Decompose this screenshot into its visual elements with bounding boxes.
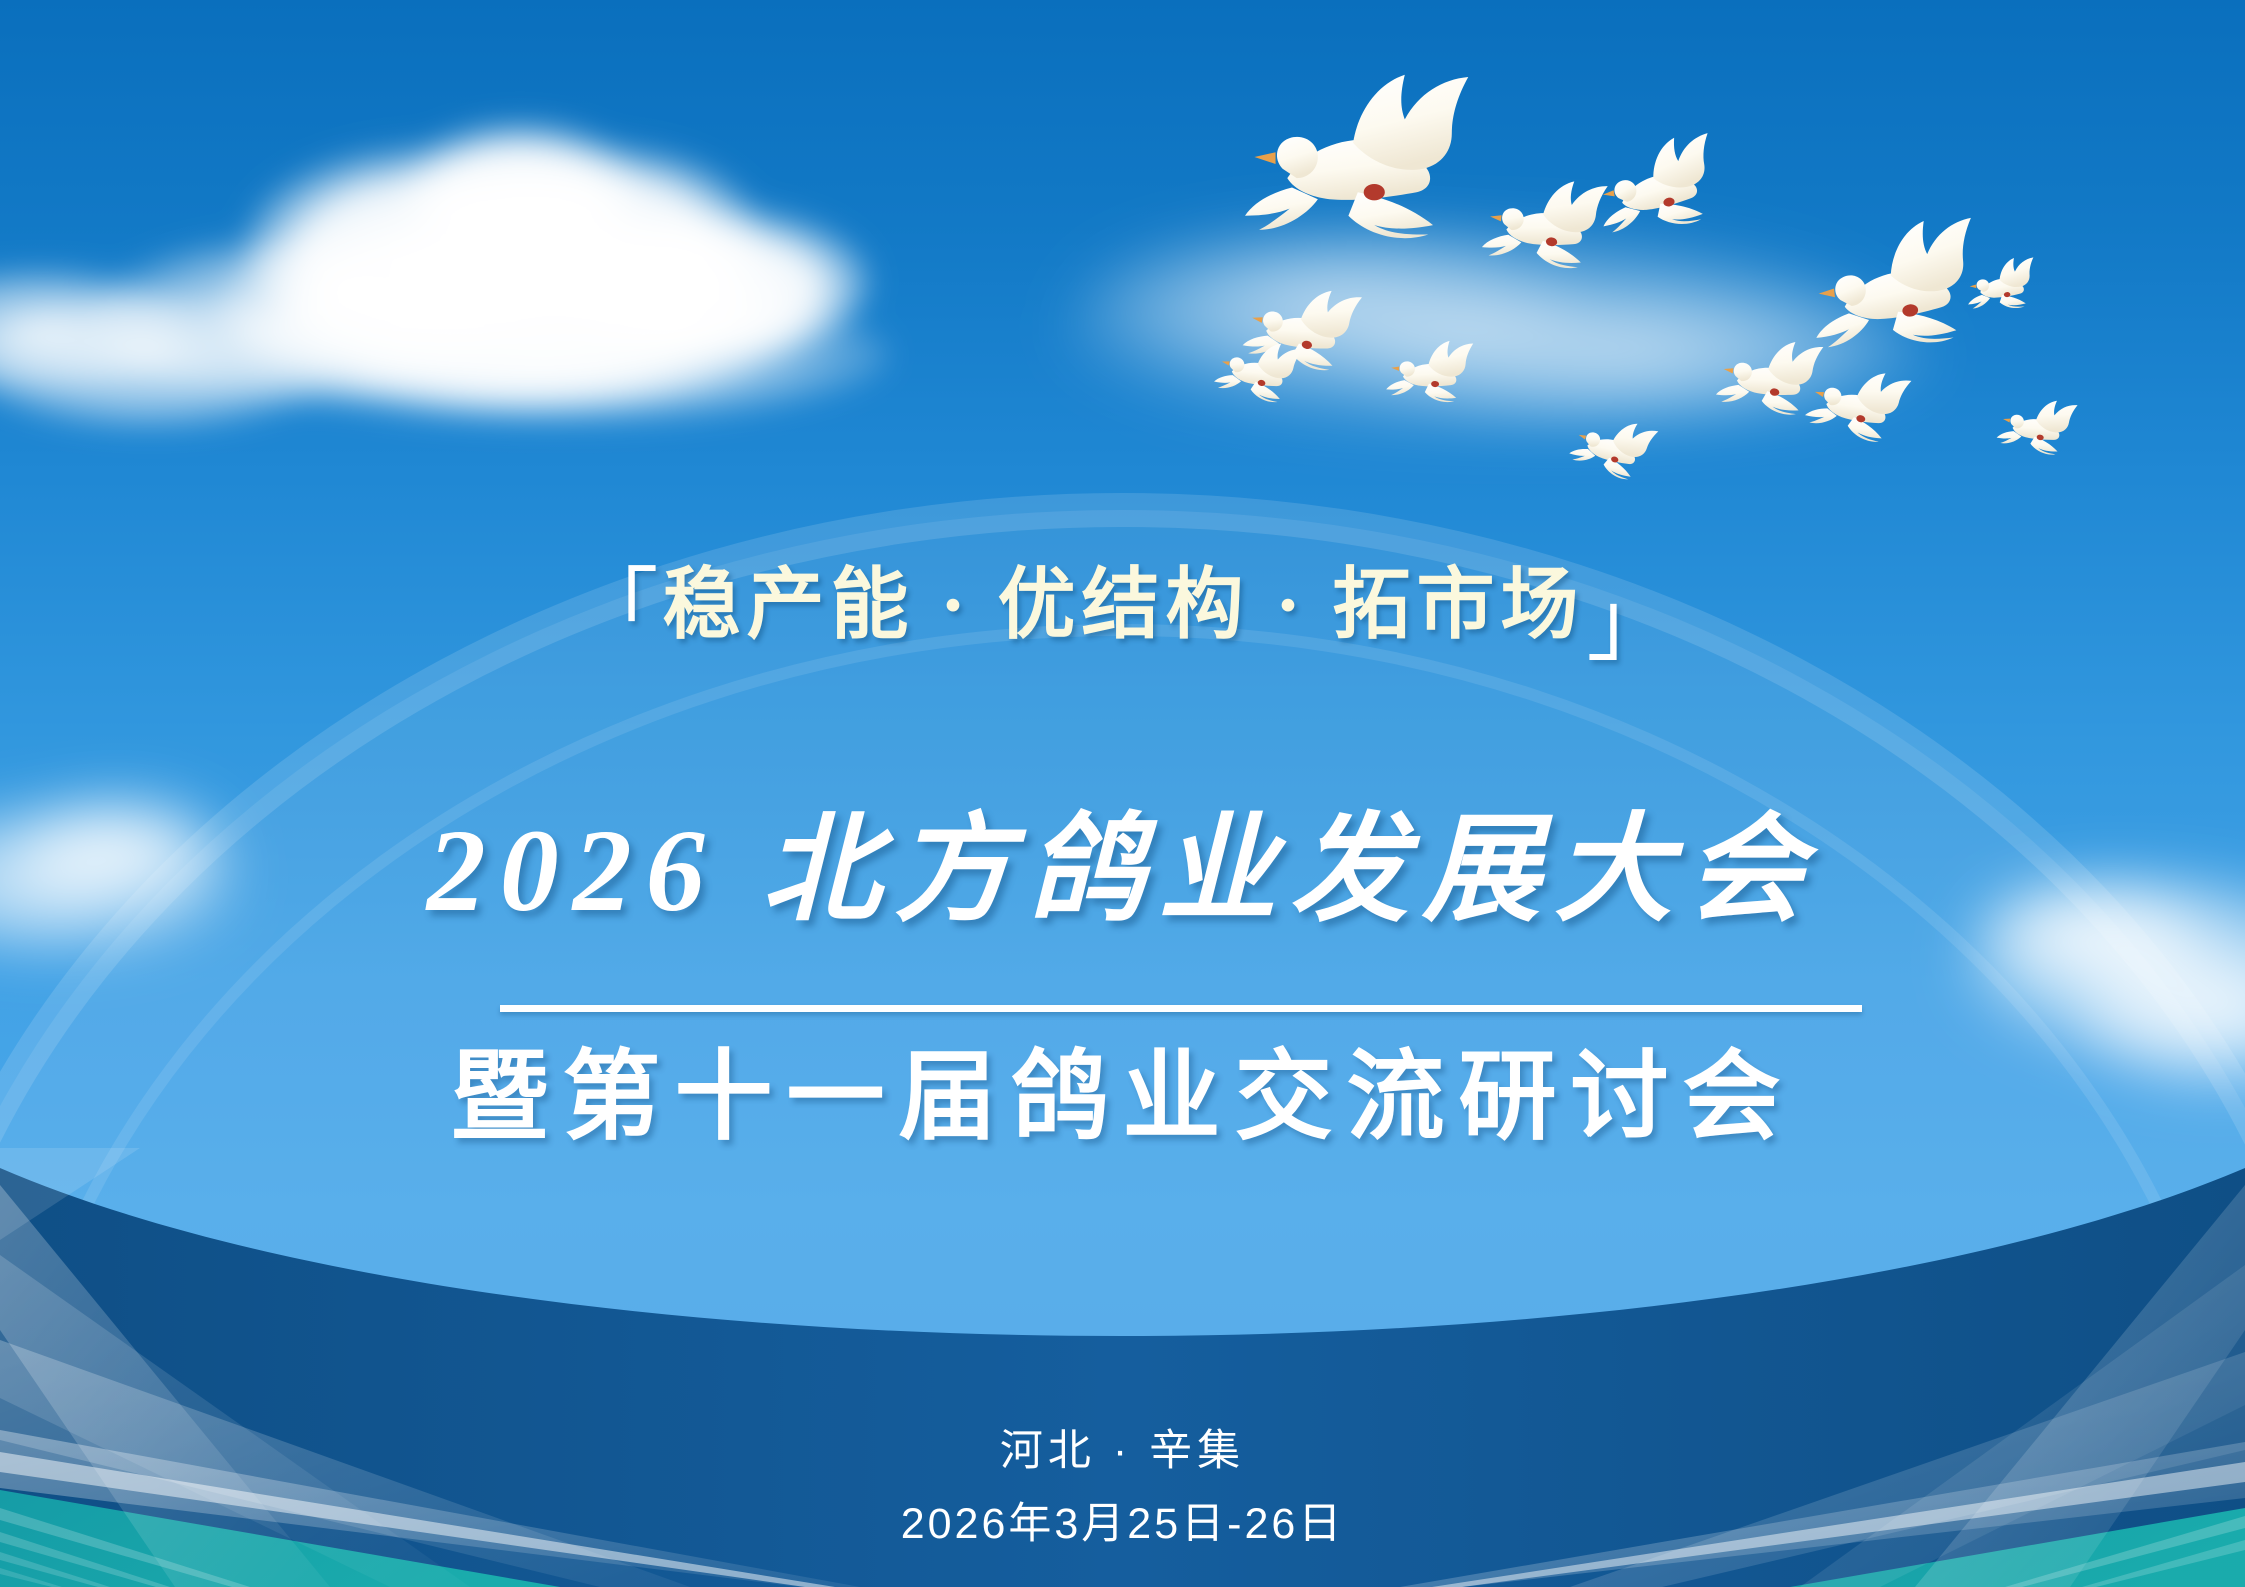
date-text: 2026年3月25日-26日 <box>0 1503 2245 1546</box>
tagline-row: 「 稳产能 · 优结构 · 拓市场 」 <box>0 566 2245 652</box>
main-title: 2026 北方鸽业发展大会 <box>0 805 2245 937</box>
venue-text: 河北 · 辛集 <box>0 1430 2245 1473</box>
bracket-open-icon: 「 <box>572 566 658 652</box>
poster-text-content: 「 稳产能 · 优结构 · 拓市场 」 2026 北方鸽业发展大会 暨第十一届鸽… <box>0 0 2245 1587</box>
poster-canvas: 「 稳产能 · 优结构 · 拓市场 」 2026 北方鸽业发展大会 暨第十一届鸽… <box>0 0 2245 1587</box>
sub-title: 暨第十一届鸽业交流研讨会 <box>0 1040 2245 1158</box>
title-divider <box>500 1005 1862 1012</box>
bracket-close-icon: 」 <box>1587 580 1673 666</box>
tagline-text: 稳产能 · 优结构 · 拓市场 <box>662 566 1584 644</box>
footer-block: 河北 · 辛集 2026年3月25日-26日 <box>0 1430 2245 1546</box>
